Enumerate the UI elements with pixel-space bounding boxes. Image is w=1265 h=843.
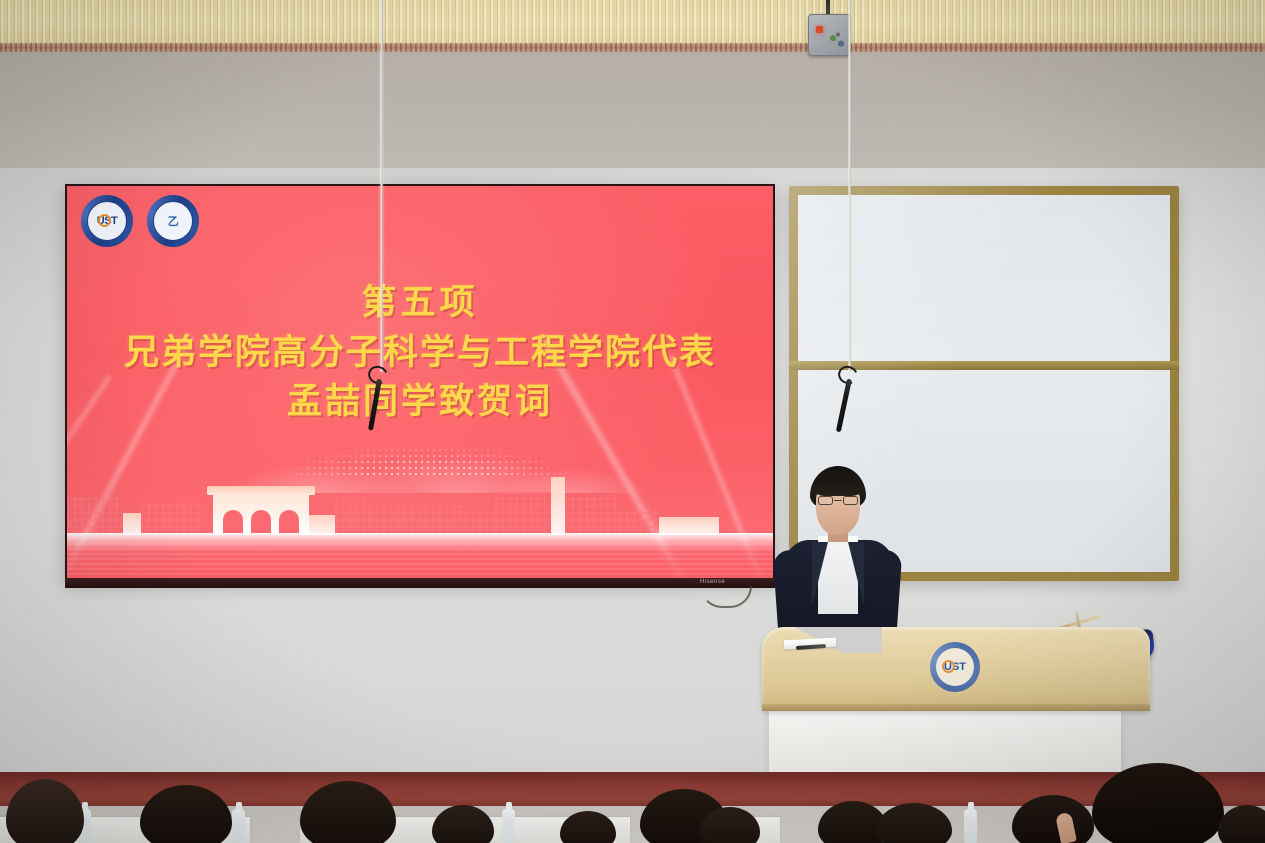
water-bottle [232,809,245,843]
slide-title-line-2: 兄弟学院高分子科学与工程学院代表 [67,328,773,378]
slide-campus-skyline [67,455,775,535]
hanging-microphone-left [368,366,394,432]
audience-head [1012,795,1094,843]
display-brand-label: Hisense [700,579,725,585]
speaker-hair-fringe [812,474,864,496]
microphone-cable-right [848,0,851,372]
slide-logo-group: UST 乙 [81,195,199,247]
podium-logo-mark: UST [936,648,974,686]
led-display-screen[interactable]: UST 乙 第五项 兄弟学院高分子科学与工程学院代表 孟喆同学致贺词 [65,184,775,581]
slide-foreground-band [67,533,775,579]
slide-campus-gate [213,493,309,535]
slide-title-block: 第五项 兄弟学院高分子科学与工程学院代表 孟喆同学致贺词 [67,278,773,427]
hanging-microphone-right [838,366,864,434]
slide-title-line-1: 第五项 [67,278,773,328]
qust-logo-mark: UST [94,208,120,234]
display-bottom-bezel [65,578,775,588]
water-bottle [502,809,515,843]
speaker-lapel-right [848,542,864,606]
audience-head [432,805,494,843]
audience-head [560,811,616,843]
audience-head [140,785,232,843]
upper-wall [0,52,1265,172]
qust-logo: UST [81,195,133,247]
podium-qust-logo: UST [928,640,982,694]
polytechnic-logo: 乙 [147,195,199,247]
water-bottle [964,809,977,843]
audience-head [876,803,952,843]
eyeglasses-icon [818,496,858,506]
polytechnic-logo-mark: 乙 [160,208,186,234]
junction-box-icon [808,14,850,56]
speaker-lapel-left [812,542,828,606]
podium-desktop: UST [762,627,1150,711]
audience-head [6,779,84,843]
lecture-hall-photo: UST 乙 第五项 兄弟学院高分子科学与工程学院代表 孟喆同学致贺词 Hisen… [0,0,1265,843]
audience-row [0,760,1265,843]
audience-head [1218,805,1265,843]
microphone-cable-left [380,0,383,372]
audience-head [300,781,396,843]
audience-head [1092,763,1224,843]
ceiling-wood-paneling [0,0,1265,44]
slide-title-line-3: 孟喆同学致贺词 [67,377,773,427]
